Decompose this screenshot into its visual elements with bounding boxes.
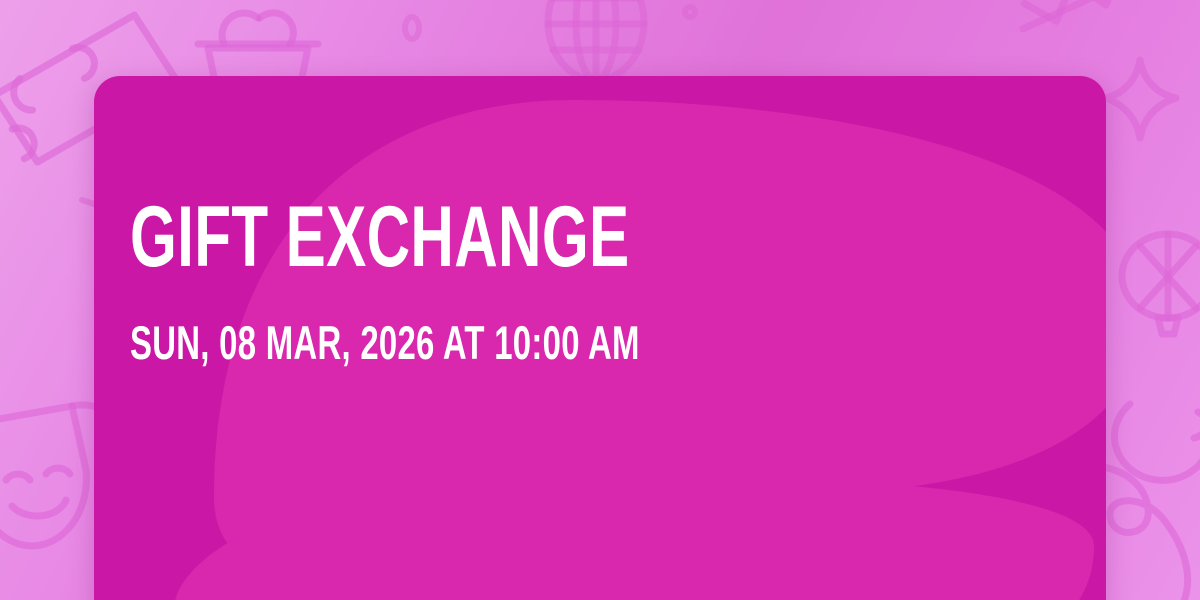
event-card[interactable]: GIFT EXCHANGE SUN, 08 MAR, 2026 AT 10:00… xyxy=(94,76,1106,600)
party-banner-icon xyxy=(1002,0,1168,31)
card-content: GIFT EXCHANGE SUN, 08 MAR, 2026 AT 10:00… xyxy=(94,76,1106,366)
confetti-dot-icon xyxy=(685,7,695,17)
lantern-icon xyxy=(1122,234,1200,334)
confetti-dot-icon xyxy=(405,17,419,39)
event-banner: GIFT EXCHANGE SUN, 08 MAR, 2026 AT 10:00… xyxy=(0,0,1200,600)
page-title: GIFT EXCHANGE xyxy=(130,198,813,277)
sparkle-icon xyxy=(1106,60,1176,138)
event-datetime: SUN, 08 MAR, 2026 AT 10:00 AM xyxy=(130,319,813,366)
